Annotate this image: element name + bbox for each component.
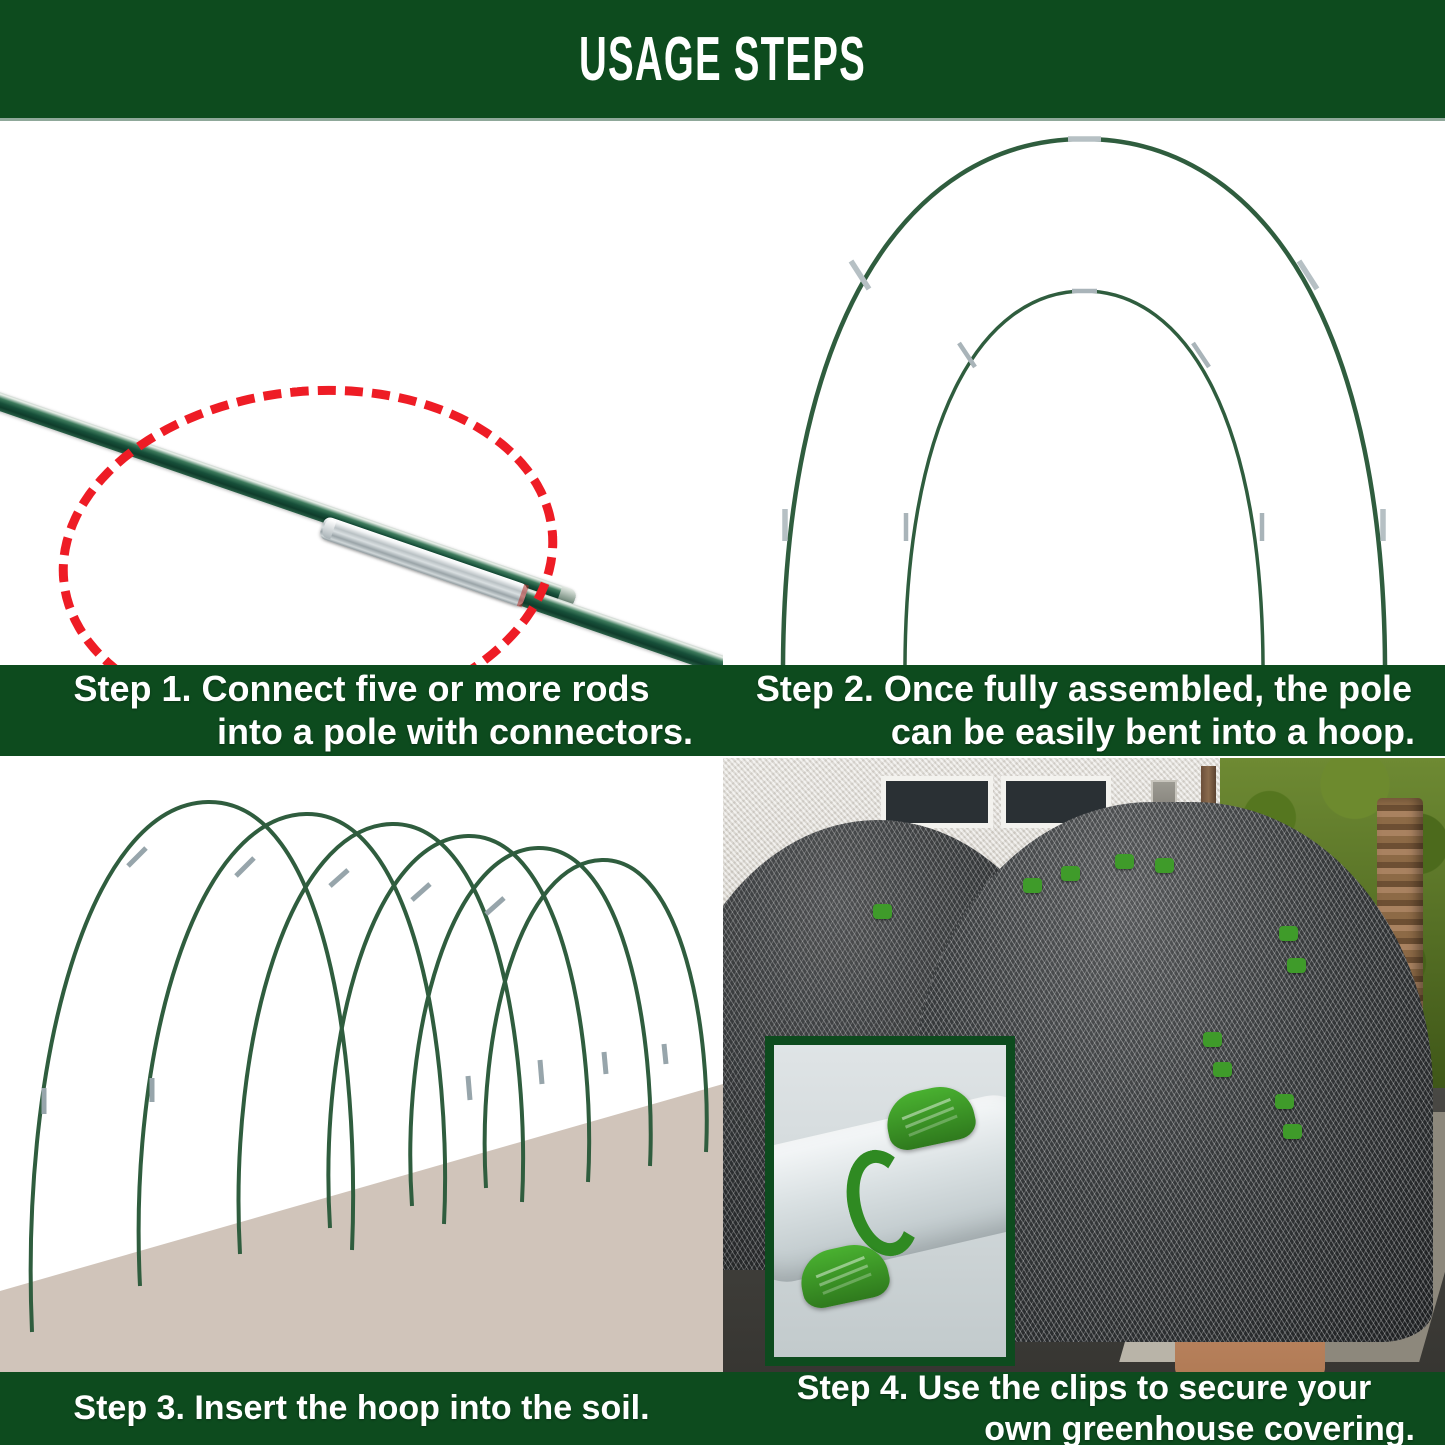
inner-hoop-path (905, 291, 1263, 665)
step-1-illustration-panel (0, 121, 723, 665)
red-dashed-highlight-ellipse (42, 362, 575, 665)
hoop-1 (31, 802, 353, 1332)
clip-closeup-inset (765, 1036, 1015, 1366)
six-hoops-perspective-diagram (0, 758, 723, 1372)
photo-clip-5 (873, 904, 892, 919)
greenhouse-photo (723, 758, 1445, 1372)
outer-hoop-connectors (785, 139, 1383, 541)
photo-clip-6 (1279, 926, 1298, 941)
step-2-caption-line-2: can be easily bent into a hoop. (891, 711, 1431, 753)
photo-clip-10 (1275, 1094, 1294, 1109)
hoop-6 (485, 860, 707, 1188)
step-4-photo-panel (723, 758, 1445, 1372)
step-4-caption-line-1: Step 4. Use the clips to secure your (797, 1372, 1371, 1409)
page-title: USAGE STEPS (579, 24, 866, 95)
infographic-page: USAGE STEPS (0, 0, 1445, 1445)
inner-hoop-connectors (906, 291, 1262, 541)
hoop-3 (239, 824, 524, 1254)
step-1-caption: Step 1. Connect five or more rods into a… (0, 665, 723, 756)
clip-closeup-photo (774, 1045, 1006, 1357)
photo-clip-11 (1283, 1124, 1302, 1139)
step-2-illustration-panel (723, 121, 1445, 665)
photo-clip-2 (1061, 866, 1080, 881)
photo-clip-3 (1115, 854, 1134, 869)
step-4-caption-line-2: own greenhouse covering. (984, 1409, 1431, 1445)
header-banner: USAGE STEPS (0, 0, 1445, 118)
photo-clip-1 (1023, 878, 1042, 893)
hoop-2 (139, 814, 445, 1286)
step-3-illustration-panel (0, 758, 723, 1372)
step-3-caption-line-1: Step 3. Insert the hoop into the soil. (73, 1388, 649, 1428)
nested-hoops-diagram (723, 121, 1445, 665)
photo-clip-4 (1155, 858, 1174, 873)
photo-clip-9 (1213, 1062, 1232, 1077)
step-2-caption-line-1: Step 2. Once fully assembled, the pole (756, 668, 1412, 710)
caption-band-row-1: Step 1. Connect five or more rods into a… (0, 665, 1445, 756)
outer-hoop-path (783, 139, 1385, 665)
step-2-caption: Step 2. Once fully assembled, the pole c… (723, 665, 1445, 756)
step-1-caption-line-1: Step 1. Connect five or more rods (73, 668, 649, 710)
caption-band-row-2: Step 3. Insert the hoop into the soil. S… (0, 1372, 1445, 1445)
photo-clip-7 (1287, 958, 1306, 973)
step-4-caption: Step 4. Use the clips to secure your own… (723, 1372, 1445, 1445)
step-3-caption: Step 3. Insert the hoop into the soil. (0, 1372, 723, 1445)
hoop-4 (328, 836, 589, 1228)
step-1-caption-line-2: into a pole with connectors. (217, 711, 709, 753)
photo-clip-8 (1203, 1032, 1222, 1047)
